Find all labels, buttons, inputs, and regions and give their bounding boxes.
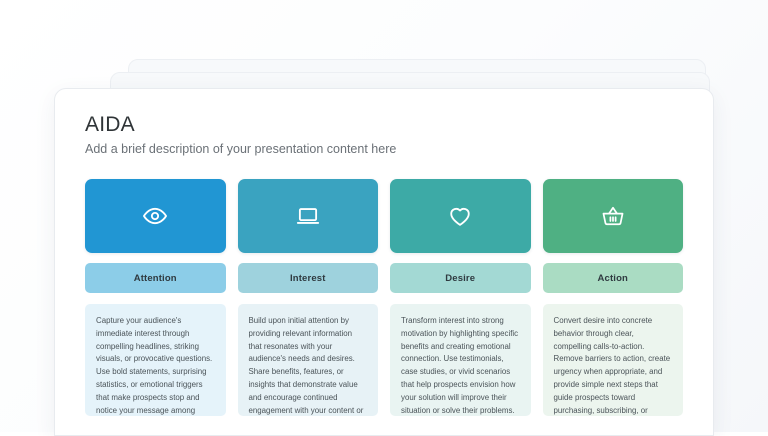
icon-tile-desire[interactable] bbox=[390, 179, 531, 253]
body-panel-interest: Build upon initial attention by providin… bbox=[238, 304, 379, 416]
body-panel-desire: Transform interest into strong motivatio… bbox=[390, 304, 531, 416]
shopping-basket-icon bbox=[600, 203, 626, 229]
label-chip-interest[interactable]: Interest bbox=[238, 263, 379, 293]
body-text: Transform interest into strong motivatio… bbox=[401, 316, 518, 415]
aida-column-interest: Interest Build upon initial attention by… bbox=[238, 179, 379, 416]
label-text: Attention bbox=[134, 273, 177, 284]
heart-icon bbox=[447, 203, 473, 229]
body-panel-action: Convert desire into concrete behavior th… bbox=[543, 304, 684, 416]
icon-tile-attention[interactable] bbox=[85, 179, 226, 253]
body-panel-attention: Capture your audience's immediate intere… bbox=[85, 304, 226, 416]
label-text: Action bbox=[598, 273, 628, 284]
laptop-icon bbox=[295, 203, 321, 229]
label-chip-attention[interactable]: Attention bbox=[85, 263, 226, 293]
label-text: Interest bbox=[290, 273, 326, 284]
aida-column-attention: Attention Capture your audience's immedi… bbox=[85, 179, 226, 416]
aida-column-desire: Desire Transform interest into strong mo… bbox=[390, 179, 531, 416]
icon-tile-action[interactable] bbox=[543, 179, 684, 253]
body-text: Convert desire into concrete behavior th… bbox=[554, 316, 671, 416]
body-text: Build upon initial attention by providin… bbox=[249, 316, 364, 416]
eye-icon bbox=[142, 203, 168, 229]
page-title: AIDA bbox=[85, 113, 683, 136]
icon-tile-interest[interactable] bbox=[238, 179, 379, 253]
label-chip-action[interactable]: Action bbox=[543, 263, 684, 293]
page-subtitle: Add a brief description of your presenta… bbox=[85, 142, 683, 157]
slide-card: AIDA Add a brief description of your pre… bbox=[54, 88, 714, 436]
aida-columns: Attention Capture your audience's immedi… bbox=[85, 179, 683, 416]
label-chip-desire[interactable]: Desire bbox=[390, 263, 531, 293]
aida-column-action: Action Convert desire into concrete beha… bbox=[543, 179, 684, 416]
label-text: Desire bbox=[445, 273, 475, 284]
body-text: Capture your audience's immediate intere… bbox=[96, 316, 212, 416]
